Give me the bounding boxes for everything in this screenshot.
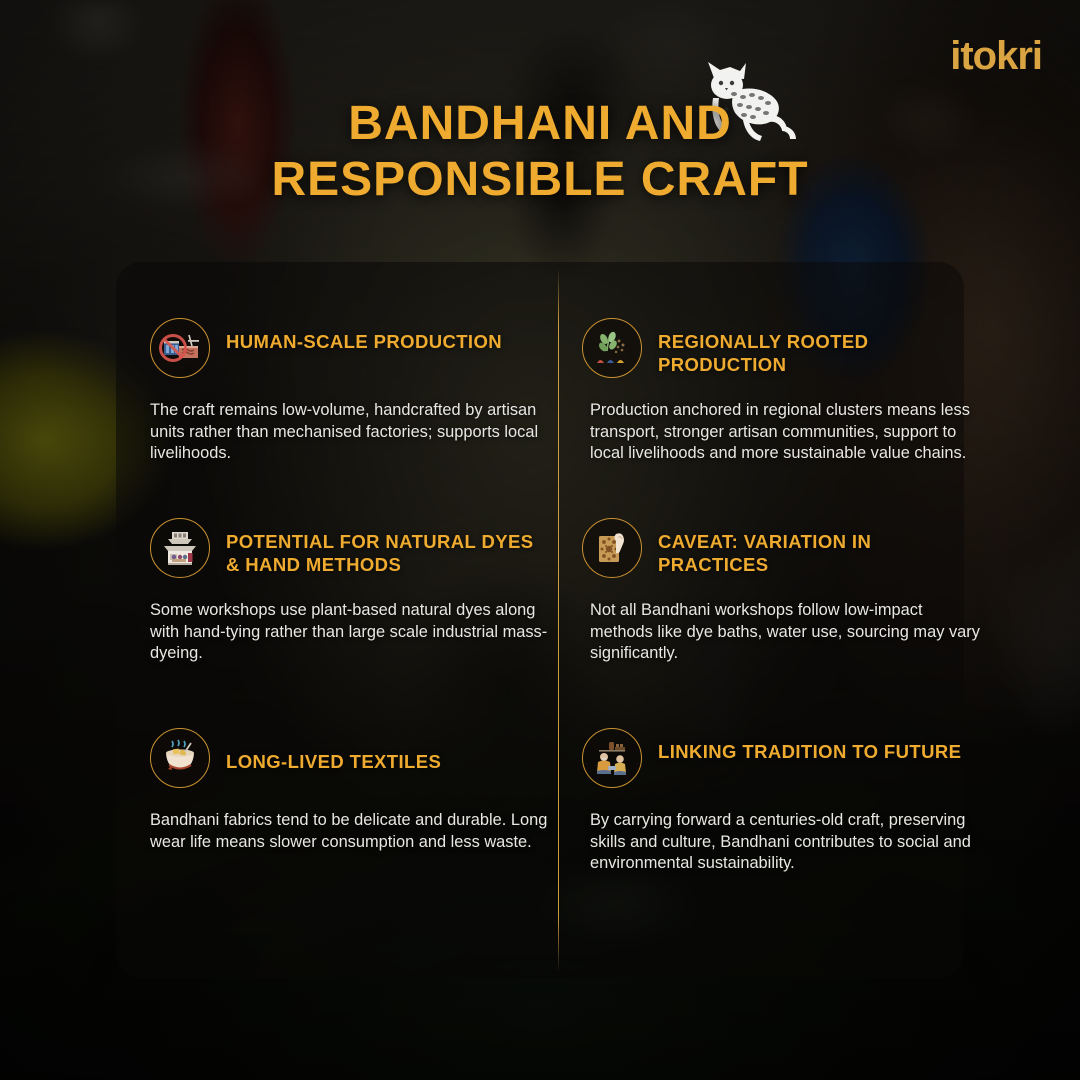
card-body: The craft remains low-volume, handcrafte…: [150, 400, 550, 465]
brand-logo[interactable]: itokri: [950, 36, 1042, 76]
card-header: HUMAN-SCALE PRODUCTION: [150, 318, 550, 378]
card-title: CAVEAT: VARIATION IN PRACTICES: [658, 518, 982, 577]
brand-logo-text: itokri: [950, 34, 1042, 78]
card-title: REGIONALLY ROOTED PRODUCTION: [658, 318, 982, 377]
card-regionally-rooted-production[interactable]: REGIONALLY ROOTED PRODUCTION Production …: [582, 318, 982, 465]
card-caveat-variation-in-practices[interactable]: CAVEAT: VARIATION IN PRACTICES Not all B…: [582, 518, 982, 665]
page-title-line-1: BANDHANI AND: [0, 96, 1080, 152]
artisan-workshop-building-icon: [150, 518, 210, 578]
card-human-scale-production[interactable]: HUMAN-SCALE PRODUCTION The craft remains…: [150, 318, 550, 465]
card-long-lived-textiles[interactable]: LONG-LIVED TEXTILES Bandhani fabrics ten…: [150, 728, 550, 853]
card-body: Not all Bandhani workshops follow low-im…: [590, 600, 982, 665]
infographic-canvas: itokri BANDHANI AND RESPONSIBL: [0, 0, 1080, 1080]
card-title: LONG-LIVED TEXTILES: [226, 728, 441, 773]
card-title: LINKING TRADITION TO FUTURE: [658, 728, 961, 763]
card-header: POTENTIAL FOR NATURAL DYES & HAND METHOD…: [150, 518, 550, 578]
card-linking-tradition-to-future[interactable]: LINKING TRADITION TO FUTURE By carrying …: [582, 728, 982, 875]
card-title: HUMAN-SCALE PRODUCTION: [226, 318, 502, 353]
two-artisans-working-icon: [582, 728, 642, 788]
card-header: CAVEAT: VARIATION IN PRACTICES: [582, 518, 982, 578]
card-body: By carrying forward a centuries-old craf…: [590, 810, 982, 875]
hand-holding-bandhani-swatch-icon: [582, 518, 642, 578]
card-body: Production anchored in regional clusters…: [590, 400, 982, 465]
card-body: Bandhani fabrics tend to be delicate and…: [150, 810, 550, 853]
page-title: BANDHANI AND RESPONSIBLE CRAFT: [0, 96, 1080, 208]
card-header: LONG-LIVED TEXTILES: [150, 728, 550, 788]
card-title: POTENTIAL FOR NATURAL DYES & HAND METHOD…: [226, 518, 550, 577]
card-header: LINKING TRADITION TO FUTURE: [582, 728, 982, 788]
no-factory-icon: [150, 318, 210, 378]
page-title-line-2: RESPONSIBLE CRAFT: [0, 152, 1080, 208]
card-potential-for-natural-dyes[interactable]: POTENTIAL FOR NATURAL DYES & HAND METHOD…: [150, 518, 550, 665]
steaming-dye-pot-icon: [150, 728, 210, 788]
seedling-dye-powders-icon: [582, 318, 642, 378]
card-header: REGIONALLY ROOTED PRODUCTION: [582, 318, 982, 378]
column-divider: [558, 268, 559, 972]
card-body: Some workshops use plant-based natural d…: [150, 600, 550, 665]
